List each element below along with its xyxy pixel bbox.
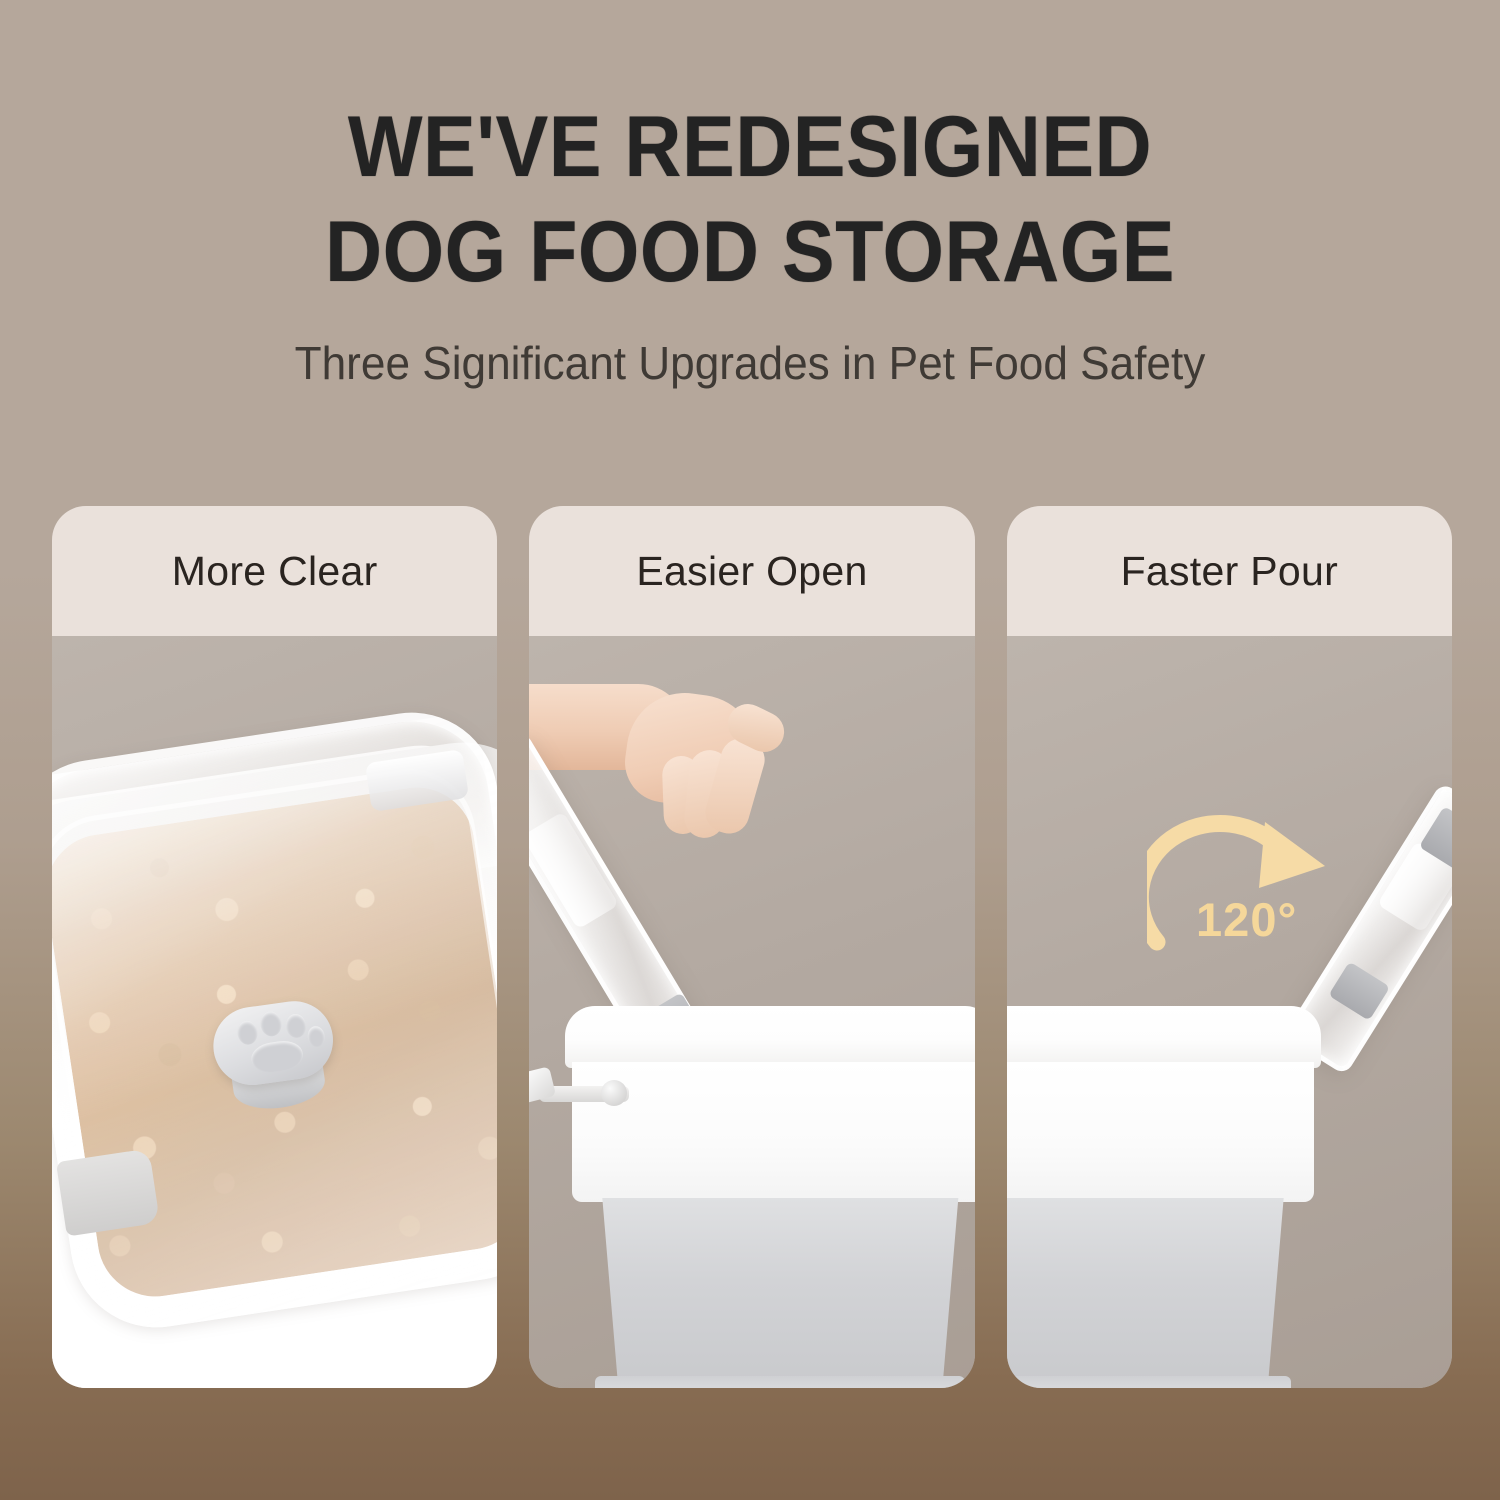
bin-collapsible-section <box>1007 1198 1300 1382</box>
panel-header-faster-pour: Faster Pour <box>1007 506 1452 636</box>
paw-print-knob-icon <box>208 997 341 1117</box>
bin-rim <box>565 1006 974 1068</box>
bin-fold-band <box>595 1376 965 1388</box>
panel-easier-open[interactable]: Easier Open <box>529 506 974 1388</box>
bin-fold-band <box>1007 1376 1291 1388</box>
panel-label-more-clear: More Clear <box>172 548 378 595</box>
side-latch-handle <box>529 1064 639 1126</box>
headline-line-2: DOG FOOD STORAGE <box>60 200 1440 305</box>
panel-faster-pour[interactable]: Faster Pour 120° <box>1007 506 1452 1388</box>
page-subtitle: Three Significant Upgrades in Pet Food S… <box>30 336 1470 390</box>
panel-label-easier-open: Easier Open <box>636 548 867 595</box>
panel-image-faster-pour: 120° <box>1007 636 1452 1388</box>
bin-upper-body <box>1007 1062 1315 1202</box>
page-title: WE'VE REDESIGNED DOG FOOD STORAGE <box>60 95 1440 305</box>
storage-bin <box>565 1006 974 1388</box>
panel-header-easier-open: Easier Open <box>529 506 974 636</box>
rotation-angle-badge: 120° <box>1147 814 1347 964</box>
angle-label: 120° <box>1159 892 1335 947</box>
headline-line-1: WE'VE REDESIGNED <box>348 99 1152 195</box>
panel-header-more-clear: More Clear <box>52 506 497 636</box>
panel-more-clear[interactable]: More Clear <box>52 506 497 1388</box>
bin-collapsible-section <box>587 1198 974 1382</box>
bin-rim <box>1007 1006 1321 1068</box>
side-clip <box>56 1148 160 1236</box>
panel-image-easier-open <box>529 636 974 1388</box>
feature-panel-group: More Clear <box>52 506 1452 1388</box>
storage-bin <box>1007 1006 1321 1388</box>
panel-label-faster-pour: Faster Pour <box>1121 548 1339 595</box>
panel-image-more-clear <box>52 636 497 1388</box>
